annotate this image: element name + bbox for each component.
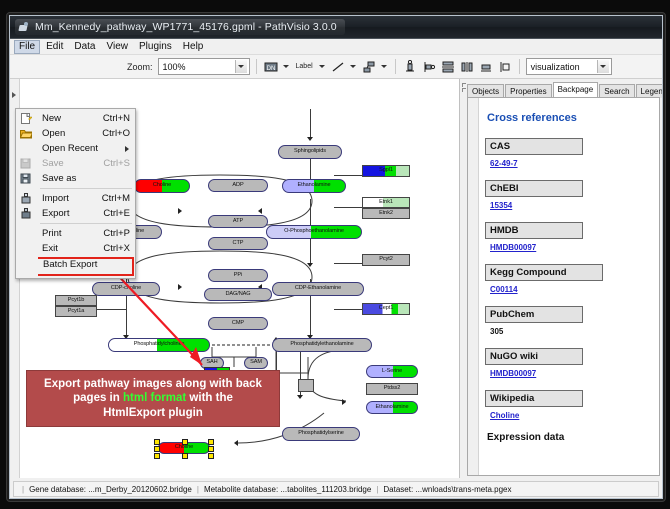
pathvisio-window: Mm_Kennedy_pathway_WP1771_45176.gpml - P… [9, 15, 663, 499]
file-menu-exit-accel: Ctrl+X [103, 243, 130, 254]
interaction-dropdown-icon[interactable] [380, 59, 389, 75]
backpage-scrollbar[interactable] [468, 98, 479, 475]
callout-line-2: pages in html format with the [73, 391, 233, 406]
gene-pcyt1b[interactable]: Pcyt1b [55, 295, 97, 306]
line-icon[interactable] [330, 59, 346, 75]
gene-ptdss2[interactable]: Ptdss2 [366, 383, 418, 395]
distribute-icon[interactable] [459, 59, 475, 75]
xref-label-kegg-compound: Kegg Compound [485, 264, 603, 281]
toolbar: Zoom: 100% DN Label [10, 55, 662, 79]
side-panel-grip[interactable] [460, 79, 467, 478]
line-dropdown-icon[interactable] [349, 59, 358, 75]
xref-label-wikipedia: Wikipedia [485, 390, 583, 407]
xref-value-nugo-wiki[interactable]: HMDB00097 [490, 369, 653, 378]
file-menu-save-as-label: Save as [42, 173, 76, 184]
file-menu-open-label: Open [42, 128, 65, 139]
xref-value-wikipedia[interactable]: Choline [490, 411, 653, 420]
node-l-serine[interactable]: L-Serine [366, 365, 418, 378]
screen-background: Mm_Kennedy_pathway_WP1771_45176.gpml - P… [0, 0, 670, 509]
file-menu-export-accel: Ctrl+E [103, 208, 130, 219]
callout-line-3: HtmlExport plugin [103, 406, 203, 421]
title-bar: Mm_Kennedy_pathway_WP1771_45176.gpml - P… [10, 16, 662, 39]
node-phosphatidylserine[interactable]: Phosphatidylserine [282, 427, 360, 441]
node-ethanolamine-top[interactable]: Ethanolamine [282, 179, 346, 193]
window-title: Mm_Kennedy_pathway_WP1771_45176.gpml - P… [35, 21, 337, 33]
new-document-icon [20, 113, 32, 124]
handle-e[interactable] [208, 446, 214, 452]
file-menu-save-label: Save [42, 158, 64, 169]
gene-sgpl1[interactable]: Sgpl1 [362, 165, 410, 177]
visualization-value: visualization [531, 62, 580, 72]
node-adp[interactable]: ADP [208, 179, 268, 192]
xref-label-pubchem: PubChem [485, 306, 583, 323]
node-choline-top[interactable]: Choline [134, 179, 190, 193]
submenu-arrow-icon [125, 146, 129, 152]
backpage-content: Cross references CAS 62-49-7 ChEBI 15354… [479, 98, 659, 475]
file-menu-print[interactable]: Print Ctrl+P [16, 226, 135, 241]
file-menu-export[interactable]: Export Ctrl+E [16, 206, 135, 221]
svg-text:DN: DN [266, 66, 275, 72]
zoom-dropdown-icon[interactable] [235, 60, 247, 73]
gene-cept1[interactable]: Cept1 [362, 303, 410, 315]
node-sphingolipids[interactable]: Sphingolipids [278, 145, 342, 159]
callout-highlight: html format [123, 392, 186, 404]
node-phosphatidylethanolamine[interactable]: Phosphatidylethanolamine [272, 338, 372, 352]
selection-handles[interactable]: Choline [154, 439, 214, 457]
node-sam[interactable]: SAM [244, 357, 268, 369]
file-menu-batch-export-label: Batch Export [43, 259, 97, 270]
file-menu-open-recent[interactable]: Open Recent [16, 141, 135, 156]
gene-pcyt1a[interactable]: Pcyt1a [55, 306, 97, 317]
label-button[interactable]: Label [294, 63, 315, 70]
file-menu-new-accel: Ctrl+N [103, 113, 130, 124]
handle-nw[interactable] [154, 439, 160, 445]
menu-data[interactable]: Data [69, 40, 100, 54]
handle-ne[interactable] [208, 439, 214, 445]
gene-etnk1[interactable]: Etnk1 [362, 197, 410, 208]
file-menu-import-accel: Ctrl+M [102, 193, 130, 204]
file-menu-separator-1 [40, 188, 132, 189]
file-menu-open[interactable]: Open Ctrl+O [16, 126, 135, 141]
import-icon [20, 193, 32, 204]
xref-value-chebi[interactable]: 15354 [490, 201, 653, 210]
zoom-value: 100% [163, 62, 186, 72]
save-disk-icon [20, 158, 32, 169]
anchor-node[interactable] [298, 379, 314, 392]
file-menu-save-accel: Ctrl+S [103, 158, 130, 169]
gutter-arrow-icon [12, 92, 16, 98]
stack-vertical-icon[interactable] [440, 59, 456, 75]
file-menu-exit[interactable]: Exit Ctrl+X [16, 241, 135, 256]
xref-value-cas[interactable]: 62-49-7 [490, 159, 653, 168]
toolbar-separator [256, 59, 257, 74]
xref-value-kegg-compound[interactable]: C00114 [490, 285, 653, 294]
node-o-phosphoethanolamine[interactable]: O-Phosphoethanolamine [266, 225, 362, 239]
status-bar: | Gene database: ...m_Derby_20120602.bri… [13, 481, 659, 497]
file-menu-import-label: Import [42, 193, 69, 204]
gene-etnk2[interactable]: Etnk2 [362, 208, 410, 219]
zoom-combobox[interactable]: 100% [158, 58, 250, 75]
menu-plugins[interactable]: Plugins [134, 40, 177, 54]
visualization-dropdown-icon[interactable] [597, 60, 609, 73]
xref-label-nugo-wiki: NuGO wiki [485, 348, 583, 365]
callout-line-1: Export pathway images along with back [44, 377, 262, 392]
align-left-icon[interactable] [421, 59, 437, 75]
open-folder-icon [20, 128, 32, 139]
xref-value-hmdb[interactable]: HMDB00097 [490, 243, 653, 252]
file-menu-separator-2 [40, 223, 132, 224]
side-panel-tabs: Objects Properties Backpage Search Legen… [467, 83, 660, 98]
expression-data-heading: Expression data [487, 432, 653, 443]
menu-edit[interactable]: Edit [41, 40, 68, 54]
file-menu-open-accel: Ctrl+O [102, 128, 130, 139]
window-body: Sphingolipids Choline Ethanolamine ADP A… [10, 79, 662, 478]
menu-bar: File Edit Data View Plugins Help [10, 39, 662, 55]
toolbar-separator-3 [519, 59, 520, 74]
tab-objects[interactable]: Objects [467, 84, 504, 98]
handle-sw[interactable] [154, 453, 160, 459]
xref-label-chebi: ChEBI [485, 180, 583, 197]
tab-legend[interactable]: Legend [636, 84, 663, 98]
status-gene-database: Gene database: ...m_Derby_20120602.bridg… [29, 485, 192, 494]
datanode-icon[interactable]: DN [263, 59, 279, 75]
node-ctp[interactable]: CTP [208, 237, 268, 250]
gene-pcyt2[interactable]: Pcyt2 [362, 254, 410, 266]
xref-label-cas: CAS [485, 138, 583, 155]
file-menu-import[interactable]: Import Ctrl+M [16, 191, 135, 206]
file-menu-save: Save Ctrl+S [16, 156, 135, 171]
datanode-dropdown-icon[interactable] [282, 59, 291, 75]
node-cdp-ethanolamine[interactable]: CDP-Ethanolamine [272, 282, 364, 296]
pathvisio-icon [18, 22, 29, 33]
handle-se[interactable] [208, 453, 214, 459]
tab-backpage[interactable]: Backpage [553, 82, 599, 98]
status-metabolite-database: Metabolite database: ...tabolites_111203… [204, 485, 371, 494]
callout-line-2-b: with the [186, 392, 233, 404]
menu-help[interactable]: Help [178, 40, 209, 54]
handle-s[interactable] [182, 453, 188, 459]
align-width-icon[interactable] [478, 59, 494, 75]
file-menu-export-label: Export [42, 208, 69, 219]
align-top-icon[interactable] [402, 59, 418, 75]
file-menu-print-accel: Ctrl+P [103, 228, 130, 239]
annotation-callout: Export pathway images along with back pa… [26, 370, 280, 427]
file-menu-new[interactable]: New Ctrl+N [16, 111, 135, 126]
file-menu-save-as[interactable]: Save as [16, 171, 135, 186]
backpage-panel: Cross references CAS 62-49-7 ChEBI 15354… [467, 97, 660, 476]
annotation-arrow [106, 265, 226, 377]
file-menu-open-recent-label: Open Recent [42, 143, 98, 154]
pathway-canvas-container[interactable]: Sphingolipids Choline Ethanolamine ADP A… [10, 79, 460, 478]
status-dataset: Dataset: ...wnloads\trans-meta.pgex [383, 485, 511, 494]
align-side-icon[interactable] [497, 59, 513, 75]
file-menu-exit-label: Exit [42, 243, 58, 254]
tab-properties[interactable]: Properties [505, 84, 551, 98]
interaction-icon[interactable] [361, 59, 377, 75]
status-bar-area: | Gene database: ...m_Derby_20120602.bri… [10, 478, 662, 499]
node-ethanolamine-bottom[interactable]: Ethanolamine [366, 401, 418, 414]
menu-file[interactable]: File [14, 40, 40, 54]
toolbar-separator-2 [395, 59, 396, 74]
handle-w[interactable] [154, 446, 160, 452]
side-panel: Objects Properties Backpage Search Legen… [460, 79, 662, 478]
xref-value-pubchem: 305 [490, 327, 653, 336]
save-as-disk-icon [20, 173, 32, 184]
xref-label-hmdb: HMDB [485, 222, 583, 239]
batch-export-row[interactable]: Batch Export [19, 259, 132, 270]
file-menu-new-label: New [42, 113, 61, 124]
visualization-combobox[interactable]: visualization [526, 58, 612, 75]
label-dropdown-icon[interactable] [318, 59, 327, 75]
menu-view[interactable]: View [101, 40, 133, 54]
export-icon [20, 208, 32, 219]
cross-references-heading: Cross references [487, 112, 653, 124]
tab-search[interactable]: Search [599, 84, 634, 98]
callout-line-2-a: pages in [73, 392, 123, 404]
file-menu-popup[interactable]: New Ctrl+N Open Ctrl+O Open Recent [15, 108, 136, 279]
zoom-label: Zoom: [127, 62, 153, 72]
node-atp[interactable]: ATP [208, 215, 268, 228]
file-menu-print-label: Print [42, 228, 62, 239]
